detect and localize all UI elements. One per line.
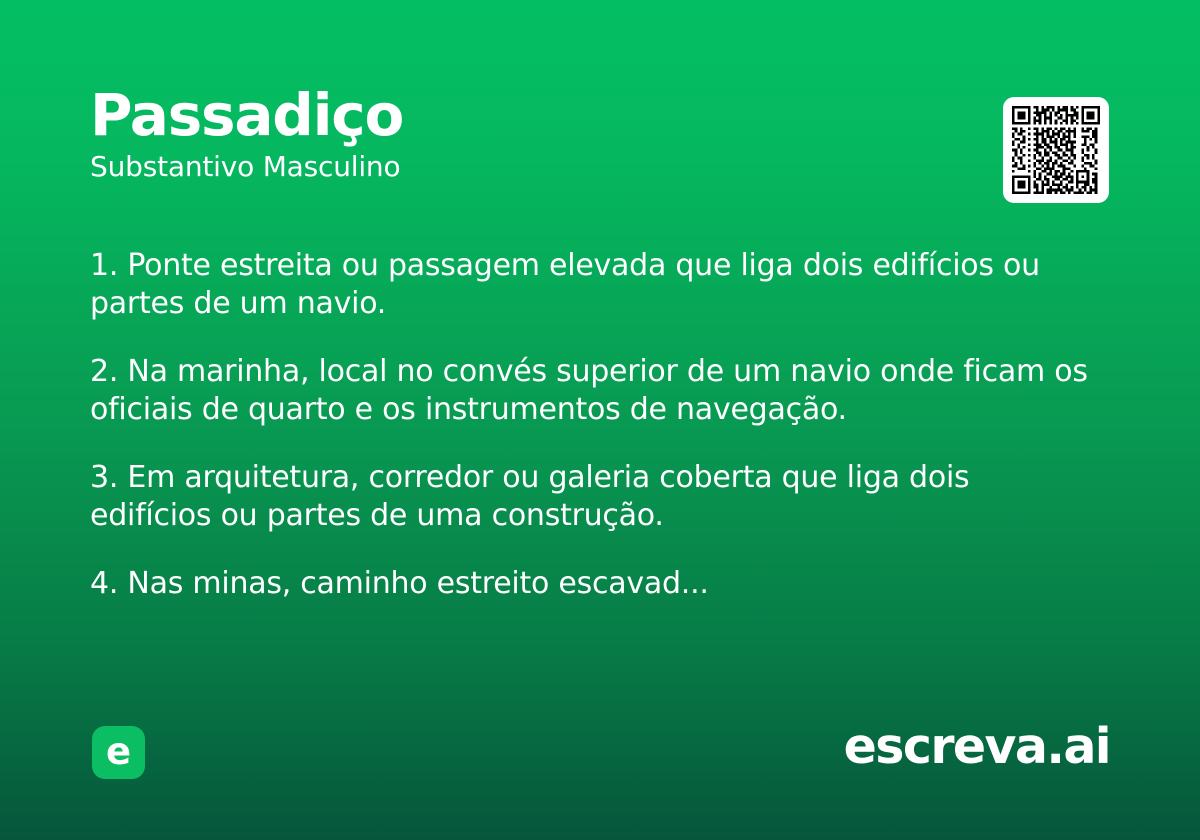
definition-item: 3. Em arquitetura, corredor ou galeria c… <box>90 459 1095 535</box>
dictionary-card: Passadiço Substantivo Masculino <box>0 0 1200 840</box>
definition-item: 2. Na marinha, local no convés superior … <box>90 353 1095 429</box>
brand-wordmark: escreva.ai <box>844 722 1110 771</box>
qr-code-card[interactable] <box>1003 97 1109 203</box>
logo-letter: e <box>92 726 145 779</box>
definition-item: 4. Nas minas, caminho estreito escavad..… <box>90 565 1095 603</box>
definition-list: 1. Ponte estreita ou passagem elevada qu… <box>90 247 1095 603</box>
word-class-label: Substantivo Masculino <box>90 151 950 183</box>
header-block: Passadiço Substantivo Masculino <box>90 86 950 183</box>
brand-logo-mark: e <box>92 726 145 779</box>
definition-item: 1. Ponte estreita ou passagem elevada qu… <box>90 247 1095 323</box>
qr-code-icon <box>1012 106 1100 194</box>
page-title: Passadiço <box>90 86 950 145</box>
